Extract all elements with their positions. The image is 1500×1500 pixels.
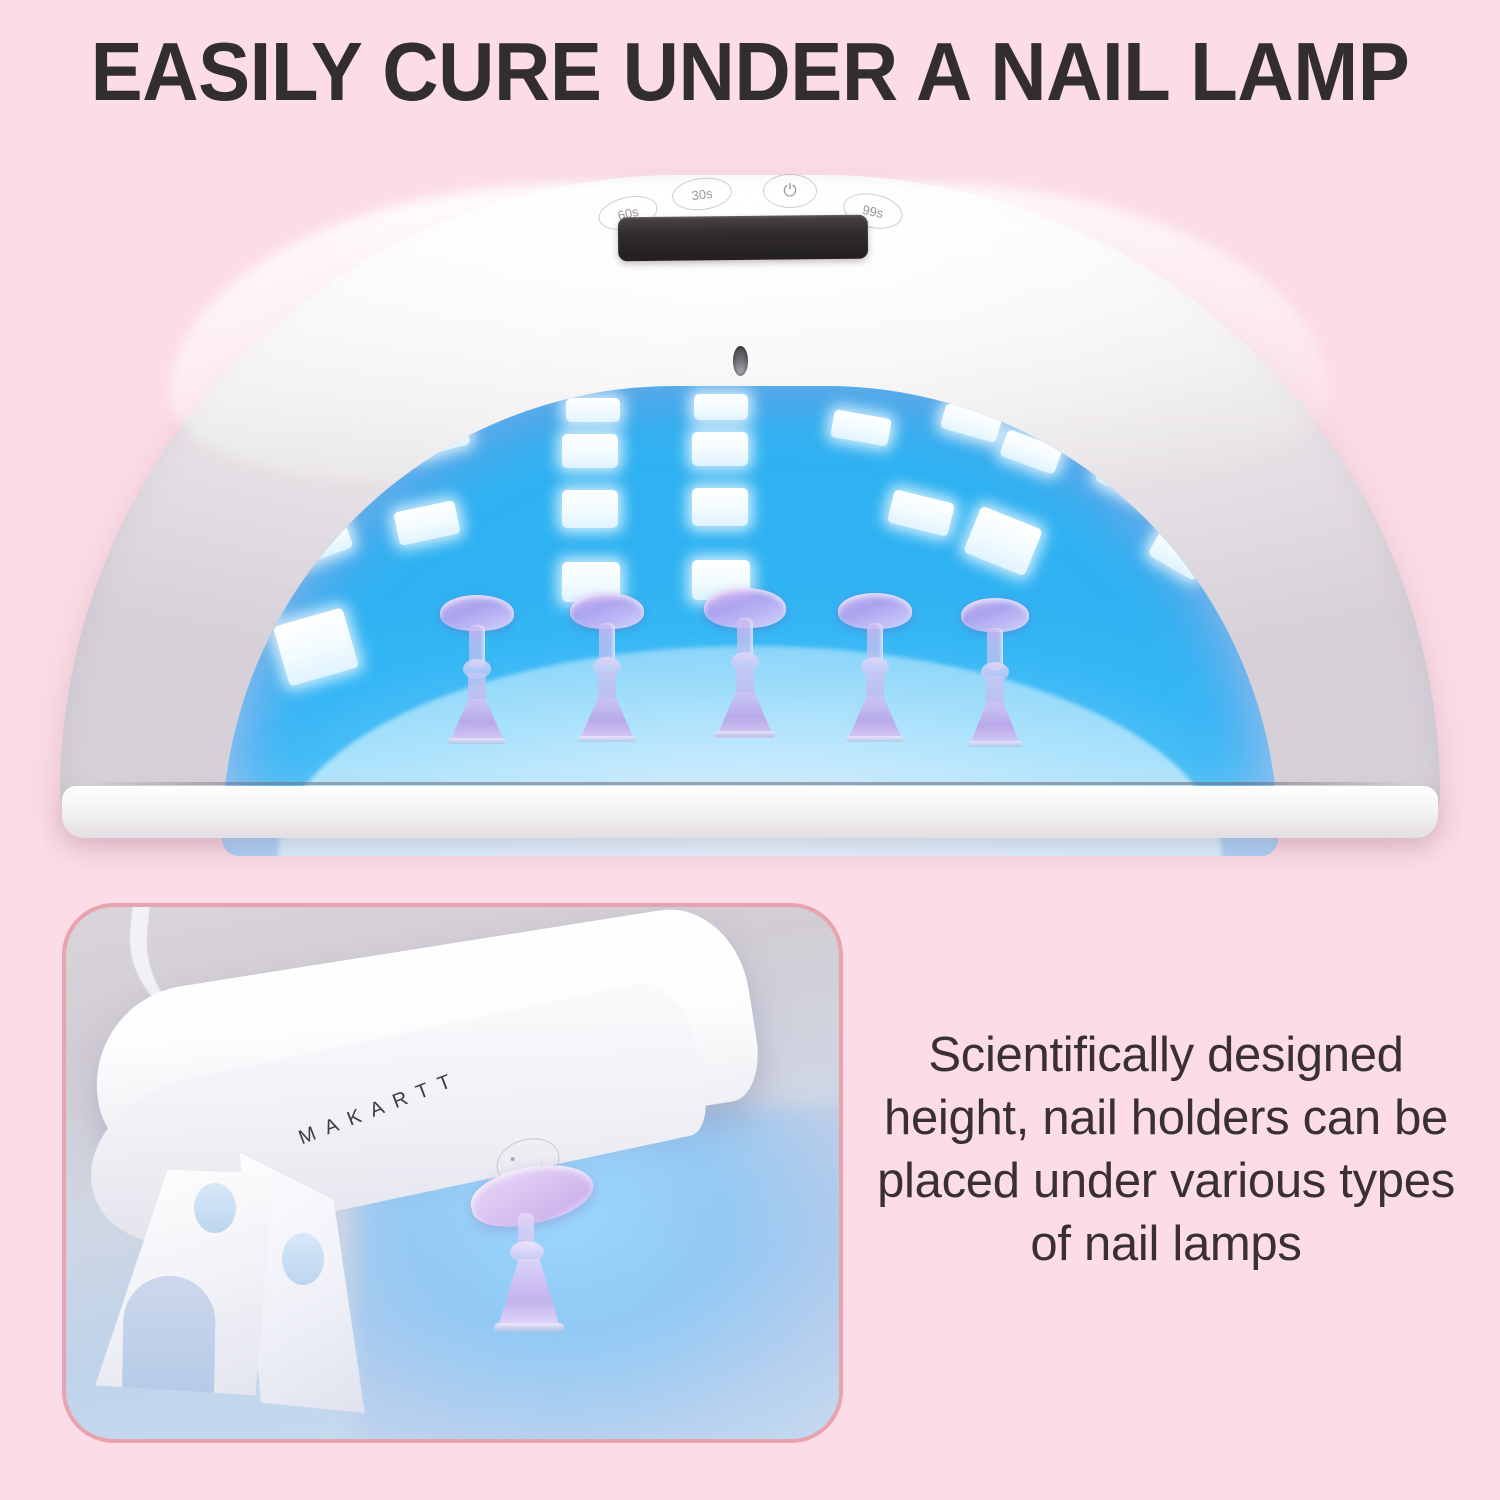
- nail-holder-base: [448, 738, 506, 744]
- base-seam-line: [90, 782, 1410, 785]
- nail-holder-stem: [736, 666, 754, 696]
- nail-holder-stem: [468, 673, 486, 703]
- nail-holder-base: [714, 731, 776, 737]
- page-title: EASILY CURE UNDER A NAIL LAMP: [45, 26, 1455, 118]
- led-light: [393, 500, 461, 546]
- power-button[interactable]: ⏻: [763, 174, 817, 208]
- led-light: [273, 607, 359, 686]
- nail-holder-base: [846, 736, 904, 742]
- nail-holder-base: [968, 741, 1022, 747]
- nail-holder-foot: [580, 697, 634, 739]
- nail-holder: [570, 593, 644, 743]
- leg-arch-cutout: [122, 1275, 216, 1407]
- nail-holder: [704, 588, 786, 746]
- nail-holder-base: [494, 1323, 564, 1332]
- secondary-product-photo: MAKARTT: [62, 903, 843, 1443]
- led-light: [562, 490, 618, 528]
- lamp-base: [62, 786, 1438, 838]
- lcd-display: [618, 215, 868, 262]
- led-light: [963, 505, 1043, 576]
- leg-hole: [282, 1233, 324, 1285]
- nail-holder: [466, 1163, 606, 1363]
- power-icon: ⏻: [783, 181, 796, 201]
- nail-holder-base: [578, 736, 636, 742]
- motion-sensor: [733, 346, 748, 376]
- nail-holder-stem: [986, 676, 1004, 706]
- feature-caption: Scientifically designed height, nail hol…: [866, 1024, 1466, 1276]
- nail-holder-foot: [848, 697, 902, 739]
- led-light: [692, 488, 748, 526]
- nail-holder: [960, 598, 1030, 744]
- nail-holder-foot: [450, 699, 504, 741]
- led-light: [692, 432, 748, 466]
- leg-hole: [194, 1183, 236, 1233]
- led-light: [887, 489, 955, 537]
- nail-holder: [440, 595, 514, 745]
- nail-holder-foot: [970, 702, 1020, 744]
- nail-holder: [838, 593, 912, 743]
- led-light: [566, 398, 620, 422]
- led-light: [694, 394, 748, 420]
- led-light: [562, 434, 618, 468]
- nail-holder-stem: [598, 671, 616, 701]
- nail-holder-cap: [961, 598, 1029, 632]
- timer-30s-label: 30s: [691, 185, 714, 202]
- nail-holder-foot: [498, 1259, 560, 1327]
- led-light: [830, 409, 892, 447]
- nail-holder-stem: [866, 671, 884, 701]
- hero-product-image: 60s 30s ⏻ 99s: [0, 150, 1500, 880]
